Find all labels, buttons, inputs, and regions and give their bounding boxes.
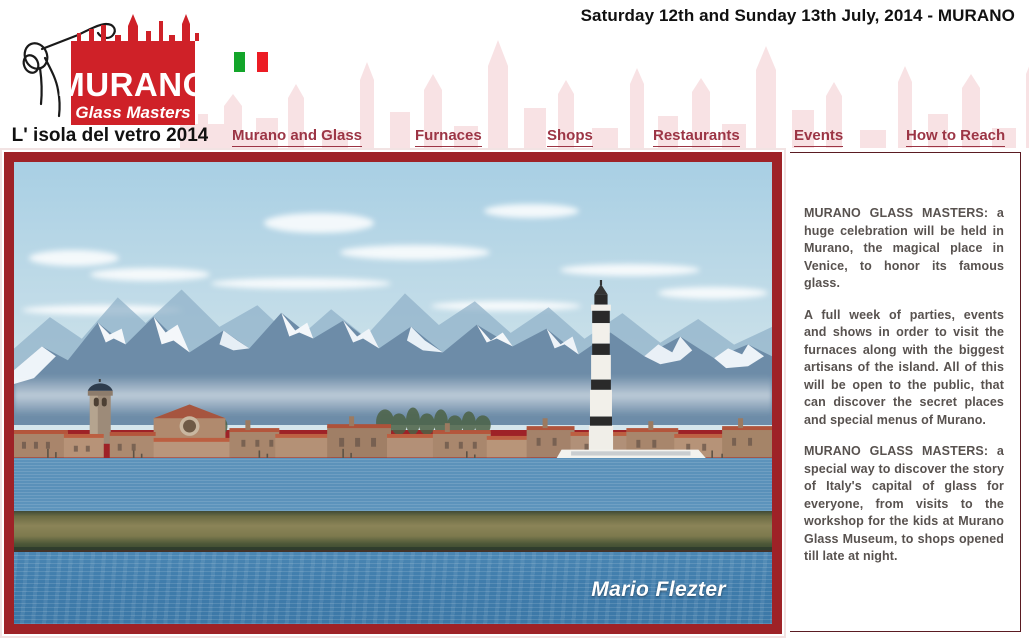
- cloud: [264, 213, 374, 233]
- flag-stripe-red: [257, 52, 268, 72]
- logo-title: MURANO: [57, 66, 208, 103]
- site-header: Saturday 12th and Sunday 13th July, 2014…: [0, 0, 1029, 152]
- description-panel-body: MURANO GLASS MASTERS: a huge celebration…: [790, 152, 1021, 632]
- flag-stripe-green: [234, 52, 245, 72]
- nav-item-how-to-reach[interactable]: How to Reach: [906, 126, 1005, 147]
- nav-item-murano-and-glass[interactable]: Murano and Glass: [232, 126, 362, 147]
- lagoon-water-upper: [14, 458, 772, 511]
- murano-lighthouse: [579, 280, 623, 465]
- flag-stripe-white: [245, 52, 256, 72]
- murano-glass-masters-logo[interactable]: MURANO Glass Masters L' isola del vetro …: [12, 8, 208, 144]
- photo-credit: Mario Flezter: [591, 578, 726, 602]
- description-paragraph-2: A full week of parties, events and shows…: [804, 307, 1004, 430]
- hero-photo: Mario Flezter: [14, 162, 772, 624]
- nav-item-shops[interactable]: Shops: [547, 126, 593, 147]
- description-panel: MURANO GLASS MASTERS: a huge celebration…: [786, 148, 1029, 638]
- description-paragraph-1: MURANO GLASS MASTERS: a huge celebration…: [804, 205, 1004, 293]
- hero-photo-frame: Mario Flezter: [0, 148, 786, 638]
- sandbar-strip: [14, 511, 772, 550]
- italian-flag-icon[interactable]: [234, 52, 268, 72]
- event-date-banner: Saturday 12th and Sunday 13th July, 2014…: [581, 6, 1015, 26]
- cloud: [484, 204, 579, 218]
- hero-photo-border: Mario Flezter: [4, 152, 782, 634]
- logo-subtitle: Glass Masters: [75, 103, 190, 122]
- main-content: Mario Flezter MURANO GLASS MASTERS: a hu…: [0, 148, 1029, 640]
- description-paragraph-3: MURANO GLASS MASTERS: a special way to d…: [804, 443, 1004, 566]
- nav-item-restaurants[interactable]: Restaurants: [653, 126, 740, 147]
- nav-item-events[interactable]: Events: [794, 126, 843, 147]
- nav-item-furnaces[interactable]: Furnaces: [415, 126, 482, 147]
